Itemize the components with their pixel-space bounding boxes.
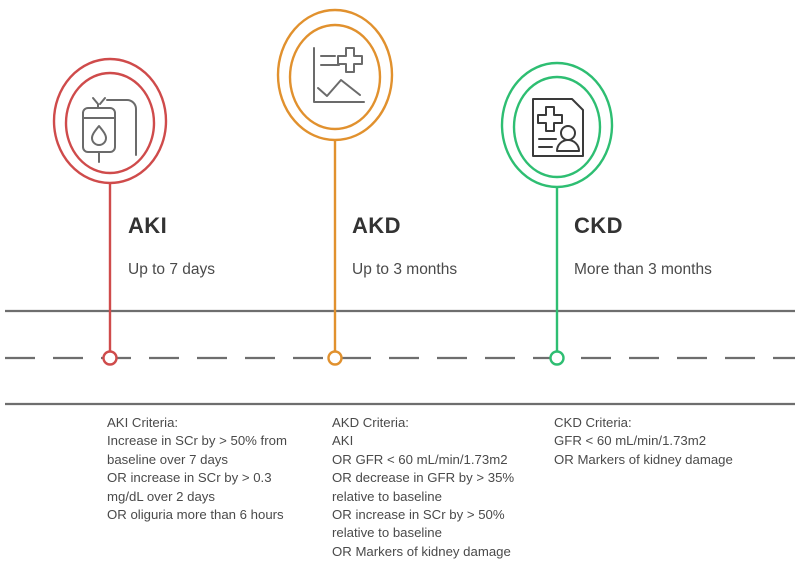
stage-label-akd: AKD [352, 213, 401, 239]
stage-label-ckd: CKD [574, 213, 623, 239]
timeline-dot-ckd[interactable] [551, 352, 564, 365]
inner-ring-akd [290, 25, 380, 129]
kidney-disease-timeline-diagram: AKI AKD CKD Up to 7 days Up to 3 months … [0, 0, 800, 559]
criteria-text-akd: AKD Criteria: AKI OR GFR < 60 mL/min/1.7… [332, 414, 557, 561]
stage-duration-akd: Up to 3 months [352, 261, 457, 279]
stage-label-aki: AKI [128, 213, 167, 239]
stage-duration-ckd: More than 3 months [574, 261, 712, 279]
stage-marker-aki[interactable] [54, 59, 166, 365]
timeline-dot-akd[interactable] [329, 352, 342, 365]
criteria-text-aki: AKI Criteria: Increase in SCr by > 50% f… [107, 414, 332, 524]
criteria-text-ckd: CKD Criteria: GFR < 60 mL/min/1.73m2 OR … [554, 414, 789, 469]
timeline-rules [5, 311, 795, 404]
stage-duration-aki: Up to 7 days [128, 261, 215, 279]
timeline-dot-aki[interactable] [104, 352, 117, 365]
inner-ring-aki [66, 73, 154, 173]
inner-ring-ckd [514, 77, 600, 177]
